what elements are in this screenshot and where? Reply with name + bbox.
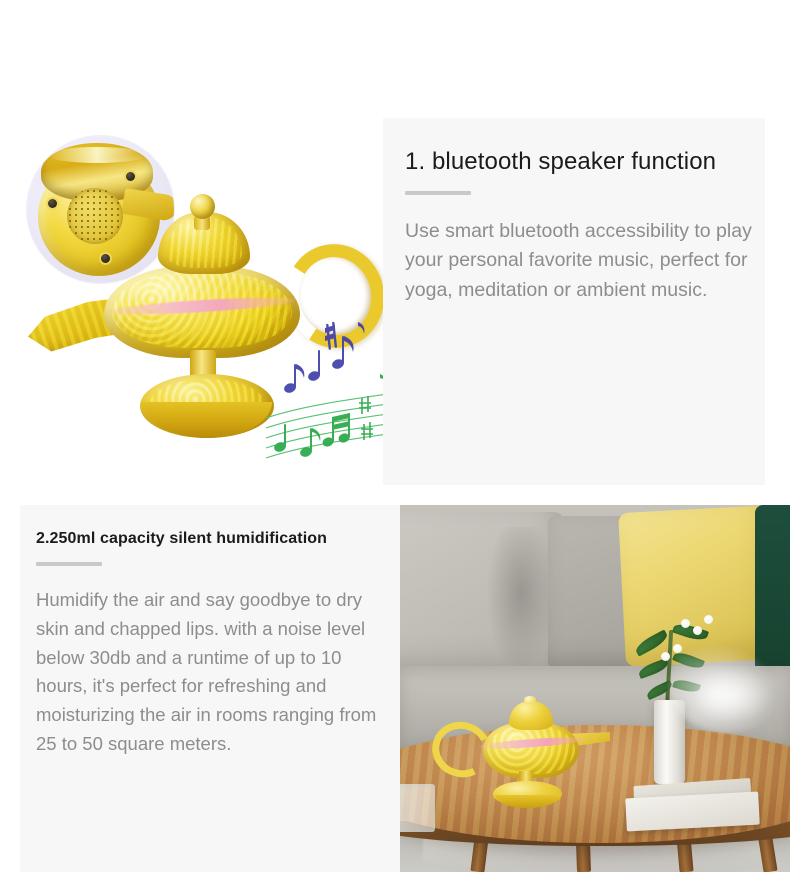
product-infographic-page: 1. bluetooth speaker function Use smart … — [0, 0, 790, 890]
lamp-body — [483, 722, 579, 778]
section-1-heading: 1. bluetooth speaker function — [405, 148, 751, 177]
musical-notes-icon — [262, 314, 383, 462]
section-2-heading: 2.250ml capacity silent humidification — [36, 529, 390, 548]
lamp-lid — [509, 701, 554, 730]
drinking-glass — [400, 784, 435, 832]
plant-flower — [681, 619, 690, 628]
bluetooth-speaker-text-panel: 1. bluetooth speaker function Use smart … — [383, 118, 765, 485]
mist-vapor — [689, 666, 775, 725]
plant-flower — [693, 626, 702, 635]
lamp-foot-rim — [495, 795, 560, 808]
humidification-text-panel: 2.250ml capacity silent humidification H… — [20, 505, 400, 872]
heading-divider — [36, 562, 102, 566]
section-2-body: Humidify the air and say goodbye to dry … — [36, 586, 388, 758]
cushion-shadow — [486, 527, 556, 674]
section-1-body: Use smart bluetooth accessibility to pla… — [405, 217, 757, 306]
lamp-finial-knob — [190, 194, 215, 219]
notebook — [625, 791, 759, 831]
heading-divider — [405, 191, 471, 195]
lamp-foot-rim — [142, 402, 272, 438]
port-screw — [126, 172, 135, 181]
bluetooth-speaker-product-photo — [0, 118, 383, 485]
aladdin-lamp-humidifier — [435, 696, 607, 817]
humidifier-lifestyle-photo — [400, 505, 790, 872]
